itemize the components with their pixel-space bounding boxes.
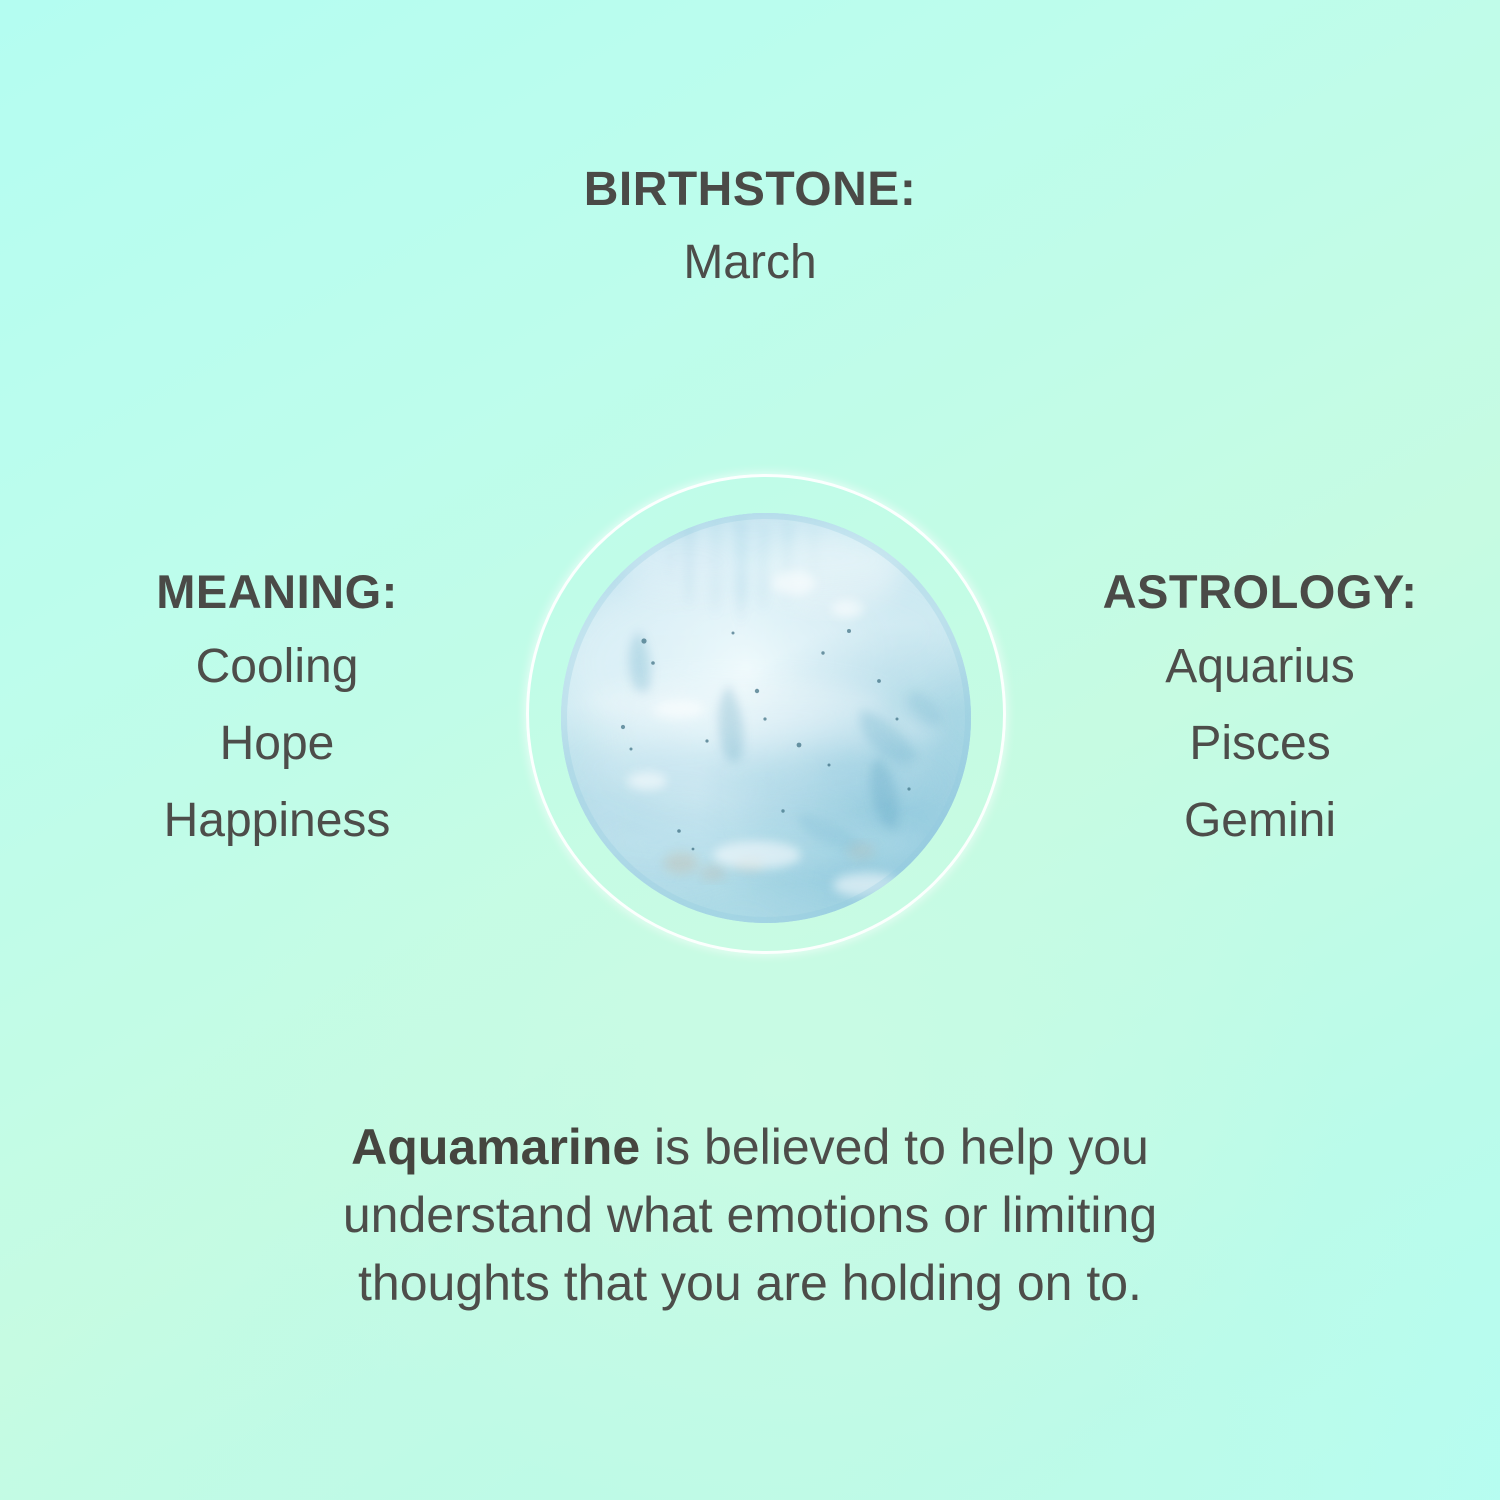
meaning-section: MEANING: Cooling Hope Happiness [37,567,517,859]
stone-figure [526,474,1006,954]
birthstone-heading: BIRTHSTONE: [0,165,1500,215]
meaning-value-3: Happiness [37,782,517,859]
birthstone-section: BIRTHSTONE: March [0,165,1500,299]
astrology-value-3: Gemini [1020,782,1500,859]
astrology-heading: ASTROLOGY: [1020,567,1500,616]
birthstone-value: March [0,227,1500,299]
meaning-value-2: Hope [37,705,517,782]
aquamarine-stone-icon [561,513,971,923]
birthstone-infographic: BIRTHSTONE: March MEANING: Cooling Hope … [0,0,1500,1500]
astrology-section: ASTROLOGY: Aquarius Pisces Gemini [1020,567,1500,859]
description-paragraph: Aquamarine is believed to help you under… [250,1113,1250,1317]
description-lead: Aquamarine [351,1119,640,1175]
meaning-heading: MEANING: [37,567,517,616]
astrology-value-1: Aquarius [1020,628,1500,705]
astrology-value-2: Pisces [1020,705,1500,782]
birthstone-value-list: March [0,227,1500,299]
meaning-value-1: Cooling [37,628,517,705]
astrology-value-list: Aquarius Pisces Gemini [1020,628,1500,859]
meaning-value-list: Cooling Hope Happiness [37,628,517,859]
